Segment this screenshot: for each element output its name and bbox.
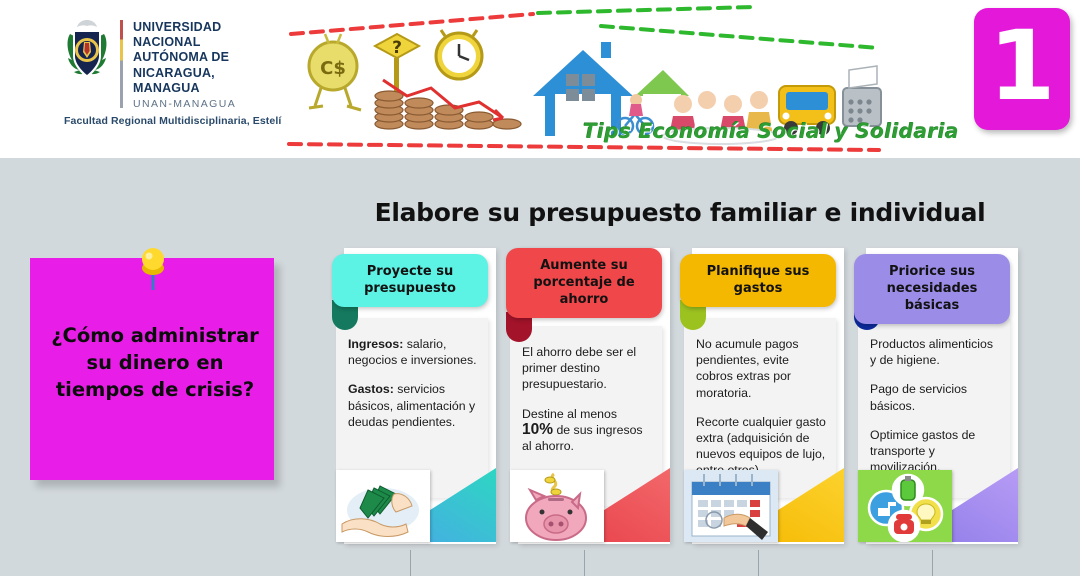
sticky-note-text: ¿Cómo administrar su dinero en tiempos d… xyxy=(42,322,268,403)
logo-divider xyxy=(120,20,123,108)
card-line: Ingresos: salario, negocios e inversione… xyxy=(348,336,478,368)
card-line: El ahorro debe ser el primer destino pre… xyxy=(522,344,652,393)
card-title: Proyecte su presupuesto xyxy=(332,254,488,307)
banner-illustration: C$ ? xyxy=(283,4,883,156)
step-number: 1 xyxy=(989,18,1056,114)
unan-crest-icon xyxy=(64,18,110,84)
card-line: Pago de servicios básicos. xyxy=(870,381,1000,413)
institution-name: UNIVERSIDADNACIONALAUTÓNOMA DENICARAGUA,… xyxy=(133,20,236,96)
tip-card-proyecte[interactable]: Proyecte su presupuesto Ingresos: salari… xyxy=(330,240,498,550)
card-line: Destine al menos10% de sus ingresos al a… xyxy=(522,406,652,455)
sticky-note: ¿Cómo administrar su dinero en tiempos d… xyxy=(30,258,280,486)
calendar-planning-icon xyxy=(684,470,778,542)
page-title: Elabore su presupuesto familiar e indivi… xyxy=(360,198,1000,227)
card-line: Gastos: servicios básicos, alimentación … xyxy=(348,381,478,430)
hand-giving-money-icon xyxy=(336,470,430,542)
tips-card-deck: Proyecte su presupuesto Ingresos: salari… xyxy=(330,240,1030,550)
infographic-page: UNIVERSIDADNACIONALAUTÓNOMA DENICARAGUA,… xyxy=(0,0,1080,576)
card-title: Priorice sus necesidades básicas xyxy=(854,254,1010,324)
header-band: UNIVERSIDADNACIONALAUTÓNOMA DENICARAGUA,… xyxy=(0,0,1080,158)
svg-text:C$: C$ xyxy=(320,58,346,79)
piggy-bank-icon xyxy=(510,470,604,542)
card-connector xyxy=(410,550,411,576)
card-title: Aumente su porcentaje de ahorro xyxy=(506,248,662,318)
svg-text:?: ? xyxy=(392,38,402,58)
pushpin-icon xyxy=(134,246,172,298)
card-connector xyxy=(932,550,933,576)
institution-acronym: UNAN-MANAGUA xyxy=(133,98,236,110)
tip-card-gastos[interactable]: Planifique sus gastos No acumule pagos p… xyxy=(678,240,846,550)
tip-card-ahorro[interactable]: Aumente su porcentaje de ahorro El ahorr… xyxy=(504,240,672,550)
card-line: Productos alimenticios y de higiene. xyxy=(870,336,1000,368)
card-line: No acumule pagos pendientes, evite cobro… xyxy=(696,336,826,401)
step-number-badge: 1 xyxy=(974,8,1070,130)
tip-card-necesidades[interactable]: Priorice sus necesidades básicas Product… xyxy=(852,240,1020,550)
card-connector xyxy=(584,550,585,576)
institution-logo: UNIVERSIDADNACIONALAUTÓNOMA DENICARAGUA,… xyxy=(64,18,236,110)
banner-title: Tips Economía Social y Solidaria xyxy=(583,119,959,143)
card-title: Planifique sus gastos xyxy=(680,254,836,307)
basic-services-icon xyxy=(858,470,952,542)
faculty-label: Facultad Regional Multidisciplinaria, Es… xyxy=(64,115,281,127)
card-connector xyxy=(758,550,759,576)
